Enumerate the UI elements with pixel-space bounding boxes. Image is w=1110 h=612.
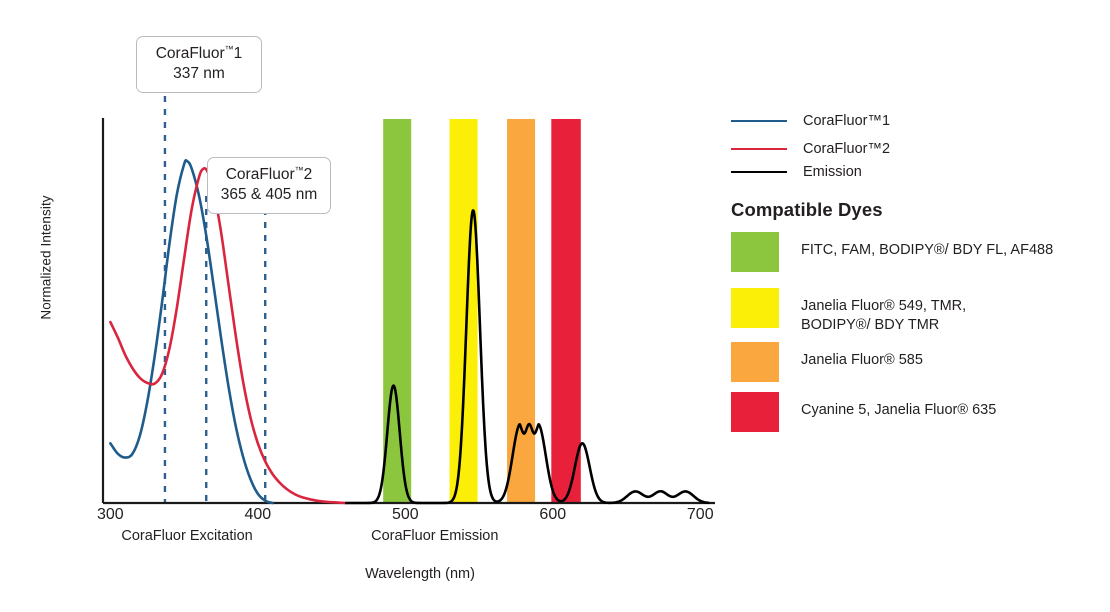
red-band xyxy=(551,119,580,503)
dye-label: Janelia Fluor® 549, TMR, BODIPY®/ BDY TM… xyxy=(801,288,966,336)
callout-2-line2: 365 & 405 nm xyxy=(220,185,318,205)
callout-1-line1: CoraFluor™1 xyxy=(156,45,243,62)
legend-line-swatch xyxy=(731,148,787,150)
legend-label: CoraFluor™2 xyxy=(803,141,890,157)
yellow-band xyxy=(450,119,478,503)
dye-color-swatch xyxy=(731,232,779,272)
compatible-dyes-title: Compatible Dyes xyxy=(731,199,883,221)
dye-color-swatch xyxy=(731,288,779,328)
legend-line-swatch xyxy=(731,120,787,122)
x-tick-700: 700 xyxy=(670,506,730,524)
legend-panel: CoraFluor™1CoraFluor™2Emission Compatibl… xyxy=(731,0,1110,612)
x-tick-500: 500 xyxy=(375,506,435,524)
dye-row-0: FITC, FAM, BODIPY®/ BDY FL, AF488 xyxy=(731,232,1053,272)
dye-label: FITC, FAM, BODIPY®/ BDY FL, AF488 xyxy=(801,232,1053,260)
curve-corafluor2 xyxy=(110,168,346,503)
legend-item-0: CoraFluor™1 xyxy=(731,113,890,129)
orange-band xyxy=(507,119,535,503)
dye-row-3: Cyanine 5, Janelia Fluor® 635 xyxy=(731,392,996,432)
dye-color-swatch xyxy=(731,342,779,382)
x-tick-300: 300 xyxy=(80,506,140,524)
callout-2-line1: CoraFluor™2 xyxy=(226,166,313,183)
dye-row-2: Janelia Fluor® 585 xyxy=(731,342,923,382)
legend-line-swatch xyxy=(731,171,787,173)
dye-label: Janelia Fluor® 585 xyxy=(801,342,923,370)
chart-area: Normalized Intensity 300400500600700 Cor… xyxy=(0,0,730,612)
excitation-group-label: CoraFluor Excitation xyxy=(77,528,297,544)
callout-corafluor1: CoraFluor™1 337 nm xyxy=(136,36,262,93)
dye-label: Cyanine 5, Janelia Fluor® 635 xyxy=(801,392,996,420)
legend-label: Emission xyxy=(803,164,862,180)
dye-row-1: Janelia Fluor® 549, TMR, BODIPY®/ BDY TM… xyxy=(731,288,966,336)
callout-1-line2: 337 nm xyxy=(149,64,249,84)
emission-group-label: CoraFluor Emission xyxy=(325,528,545,544)
callout-corafluor2: CoraFluor™2 365 & 405 nm xyxy=(207,157,331,214)
x-axis-title: Wavelength (nm) xyxy=(280,566,560,582)
emission-band-group xyxy=(383,119,581,503)
legend-item-1: CoraFluor™2 xyxy=(731,141,890,157)
legend-label: CoraFluor™1 xyxy=(803,113,890,129)
legend-item-2: Emission xyxy=(731,164,862,180)
x-tick-600: 600 xyxy=(523,506,583,524)
dye-color-swatch xyxy=(731,392,779,432)
x-tick-400: 400 xyxy=(228,506,288,524)
